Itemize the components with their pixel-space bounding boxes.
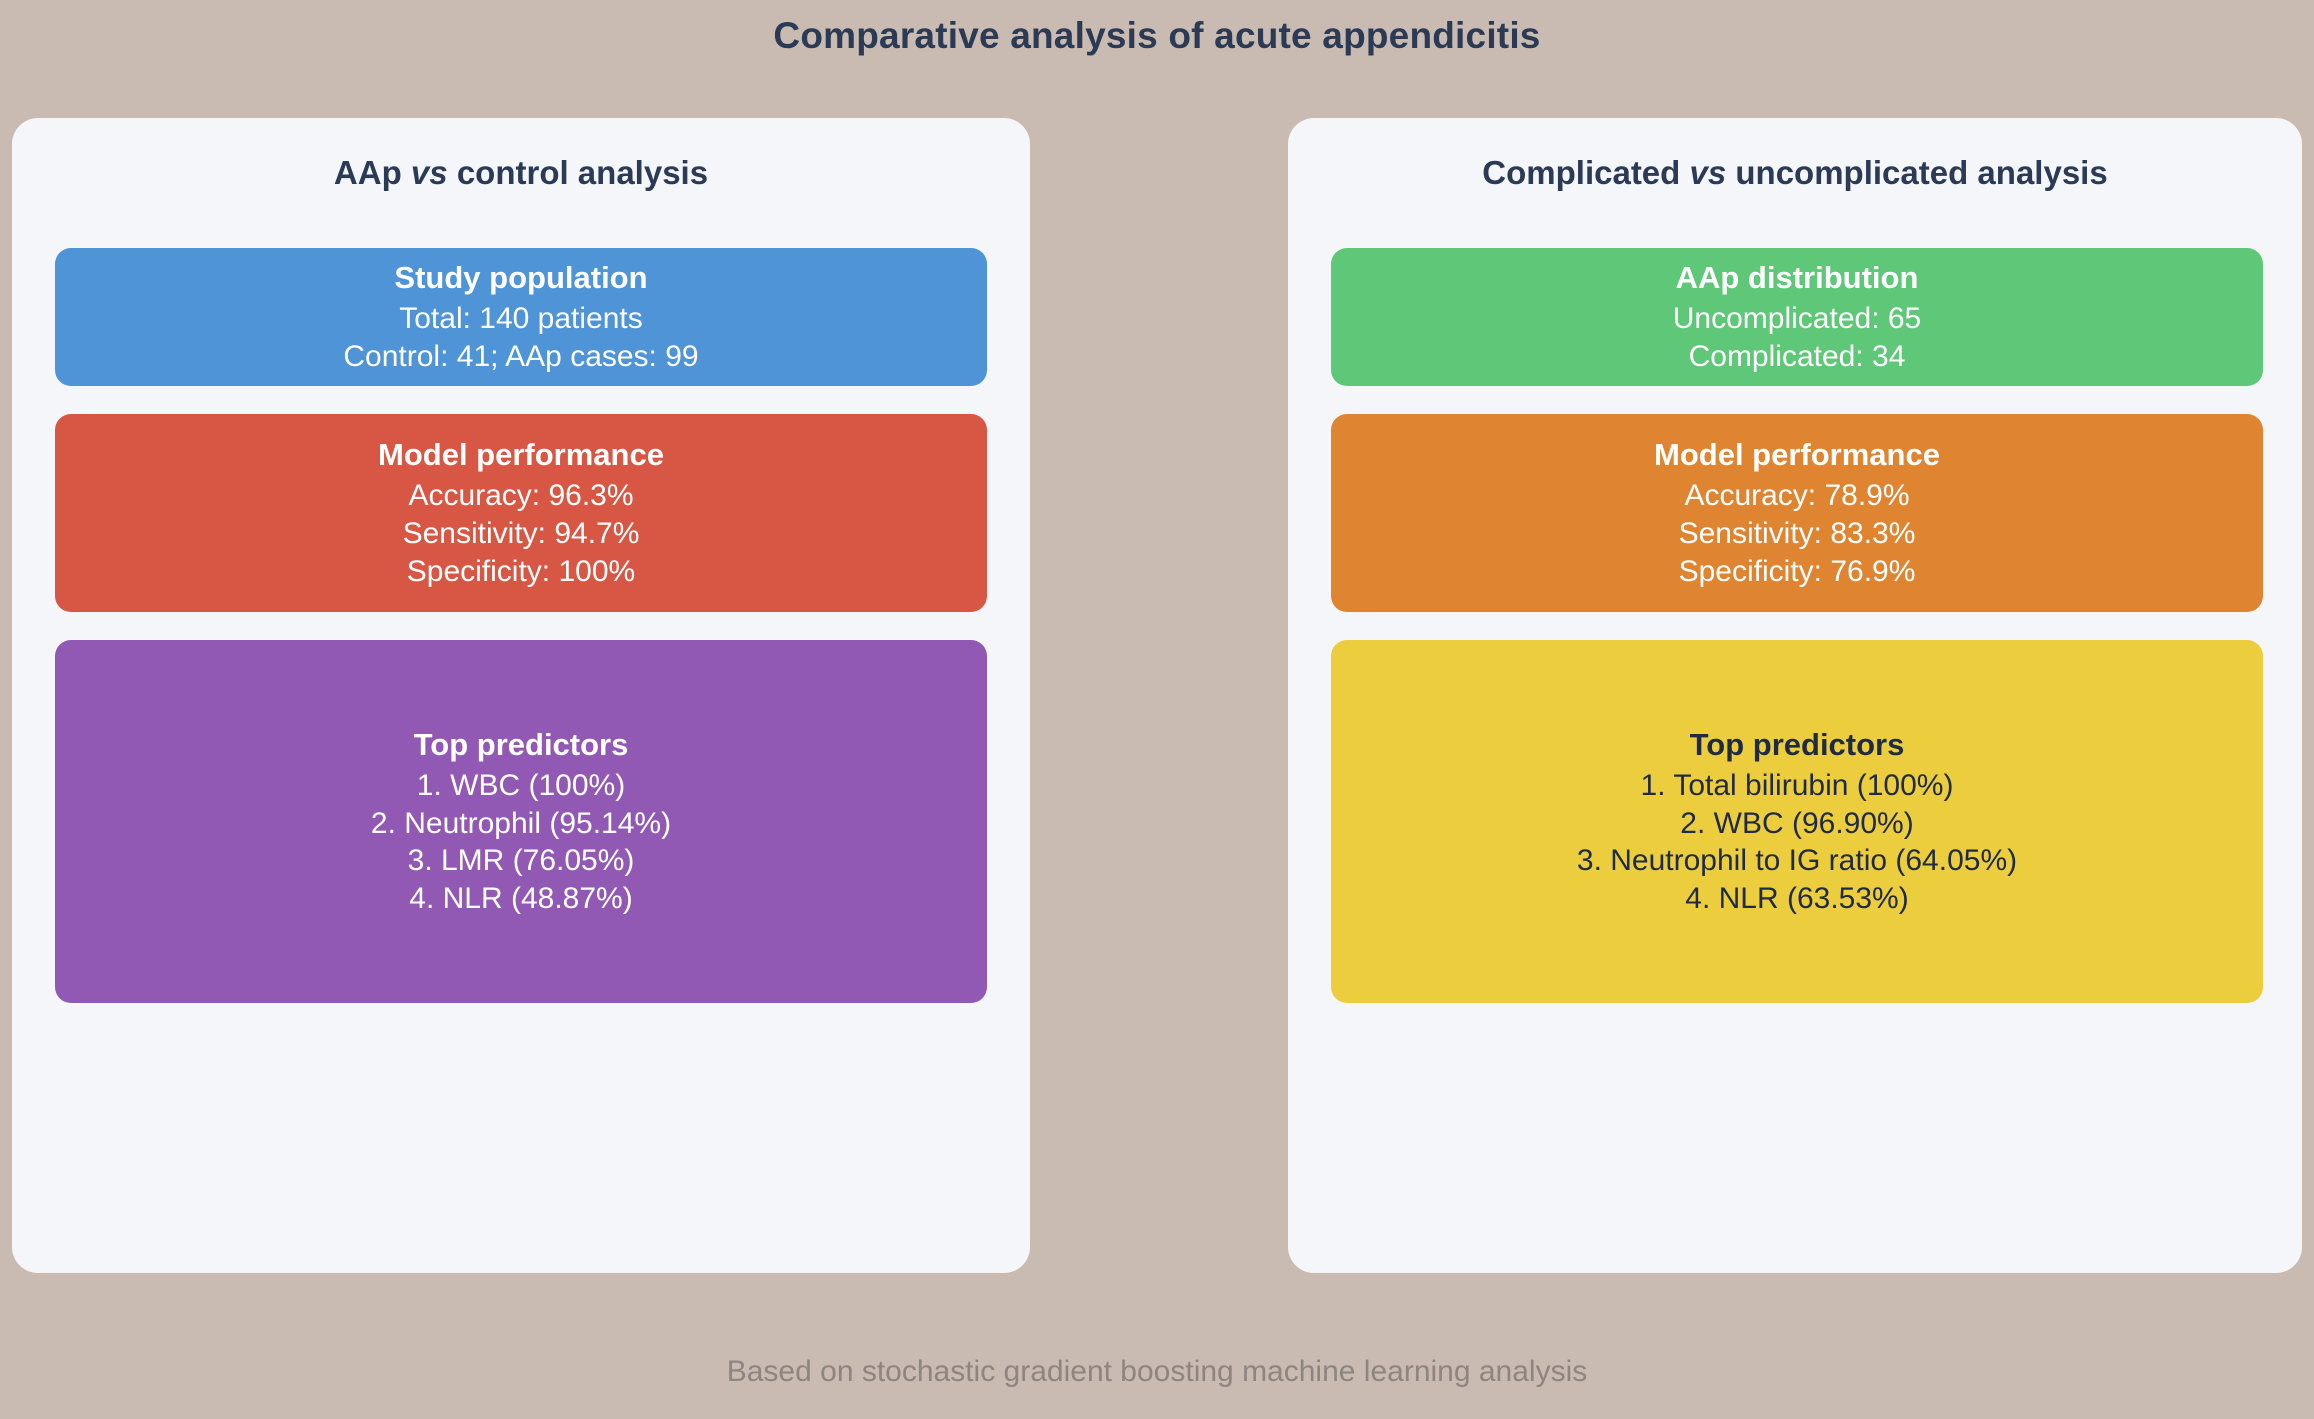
panel-title-vs: vs <box>411 154 448 191</box>
card-line: 4. NLR (48.87%) <box>409 880 632 918</box>
card-line: Control: 41; AAp cases: 99 <box>343 338 698 376</box>
footer-note: Based on stochastic gradient boosting ma… <box>0 1355 2314 1389</box>
panel-title-aap-vs-control: AAp vs control analysis <box>12 154 1030 192</box>
card-line: 2. WBC (96.90%) <box>1680 805 1913 843</box>
card-line: 2. Neutrophil (95.14%) <box>371 805 671 843</box>
panel-title-suffix: control analysis <box>457 154 708 191</box>
card-heading: Model performance <box>378 435 664 475</box>
panel-title-prefix: AAp <box>334 154 402 191</box>
card-top-predictors: Top predictors 1. WBC (100%) 2. Neutroph… <box>55 640 987 1003</box>
card-heading: Model performance <box>1654 435 1940 475</box>
card-heading: Top predictors <box>414 725 629 765</box>
panel-title-suffix: uncomplicated analysis <box>1735 154 2107 191</box>
card-model-performance: Model performance Accuracy: 96.3% Sensit… <box>55 414 987 612</box>
page-title: Comparative analysis of acute appendicit… <box>0 0 2314 72</box>
panel-title-complicated-vs-uncomplicated: Complicated vs uncomplicated analysis <box>1288 154 2302 192</box>
card-line: 1. Total bilirubin (100%) <box>1641 767 1954 805</box>
card-line: Sensitivity: 83.3% <box>1679 515 1916 553</box>
card-line: 3. Neutrophil to IG ratio (64.05%) <box>1577 842 2017 880</box>
card-line: 4. NLR (63.53%) <box>1685 880 1908 918</box>
card-heading: Study population <box>394 258 647 298</box>
panel-title-prefix: Complicated <box>1482 154 1680 191</box>
card-line: Specificity: 76.9% <box>1679 553 1916 591</box>
panel-aap-vs-control: AAp vs control analysis Study population… <box>12 118 1030 1273</box>
card-line: 1. WBC (100%) <box>417 767 625 805</box>
card-line: Total: 140 patients <box>399 300 643 338</box>
card-line: Accuracy: 96.3% <box>408 477 633 515</box>
card-top-predictors: Top predictors 1. Total bilirubin (100%)… <box>1331 640 2263 1003</box>
card-heading: AAp distribution <box>1676 258 1919 298</box>
card-heading: Top predictors <box>1690 725 1905 765</box>
card-line: Sensitivity: 94.7% <box>403 515 640 553</box>
card-line: 3. LMR (76.05%) <box>408 842 635 880</box>
card-line: Uncomplicated: 65 <box>1673 300 1921 338</box>
card-model-performance: Model performance Accuracy: 78.9% Sensit… <box>1331 414 2263 612</box>
card-study-population: Study population Total: 140 patients Con… <box>55 248 987 386</box>
card-aap-distribution: AAp distribution Uncomplicated: 65 Compl… <box>1331 248 2263 386</box>
panel-title-vs: vs <box>1690 154 1727 191</box>
card-line: Accuracy: 78.9% <box>1684 477 1909 515</box>
card-line: Specificity: 100% <box>407 553 635 591</box>
panel-complicated-vs-uncomplicated: Complicated vs uncomplicated analysis AA… <box>1288 118 2302 1273</box>
card-line: Complicated: 34 <box>1689 338 1906 376</box>
